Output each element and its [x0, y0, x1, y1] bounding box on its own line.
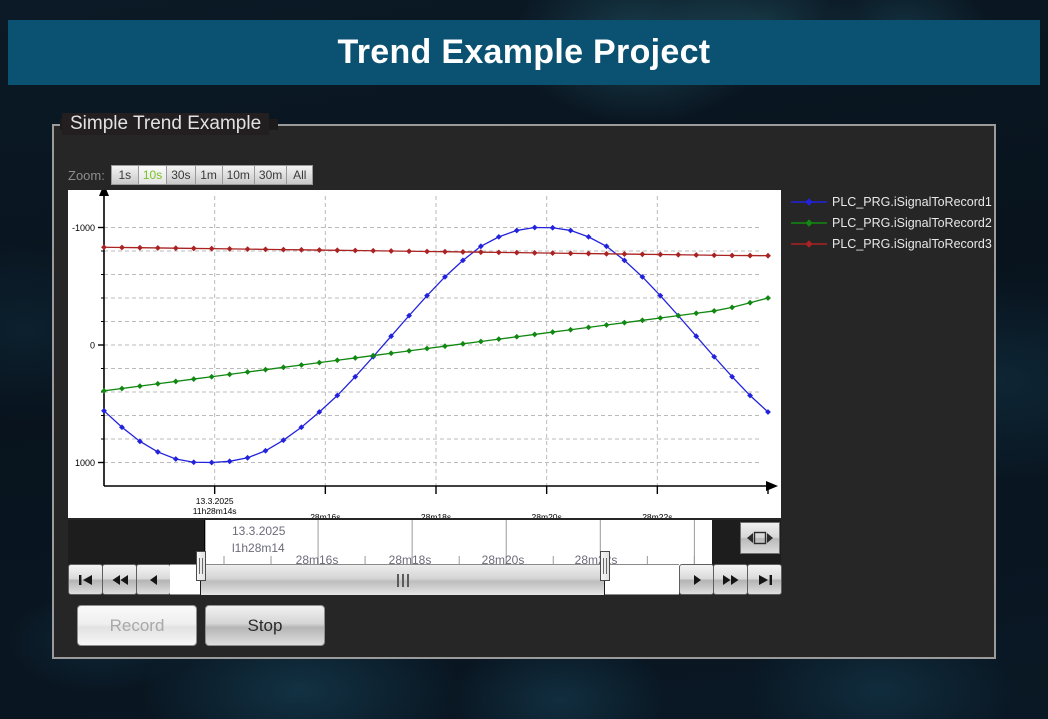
- action-buttons: Record Stop: [77, 605, 325, 646]
- zoom-toolbar: Zoom: 1s10s30s1m10m30mAll: [68, 165, 313, 185]
- handle-line: [199, 558, 200, 574]
- grip-line: [397, 574, 399, 587]
- legend-swatch-icon: [790, 238, 828, 250]
- chart-svg: 10000-1000 13.3.202511h28m14s28m16s28m18…: [68, 190, 781, 518]
- timeline-scroll-track[interactable]: [170, 564, 679, 595]
- timeline-ruler[interactable]: 13.3.2025l1h28m1428m16s28m18s28m20s28m22…: [204, 520, 712, 568]
- zoom-button-1m[interactable]: 1m: [195, 165, 222, 185]
- forward-icon: [688, 573, 706, 587]
- svg-text:-1000: -1000: [72, 223, 95, 233]
- fit-to-window-icon: [747, 530, 773, 546]
- grip-line: [407, 574, 409, 587]
- legend-item-label: PLC_PRG.iSignalToRecord1: [832, 195, 992, 209]
- timeline-step-back-button[interactable]: [136, 564, 171, 595]
- timeline-step-forward-button[interactable]: [679, 564, 714, 595]
- legend-swatch-icon: [790, 217, 828, 229]
- zoom-button-group: 1s10s30s1m10m30mAll: [111, 165, 313, 185]
- timeline-rewind-button[interactable]: [102, 564, 137, 595]
- svg-text:13.3.2025: 13.3.2025: [196, 496, 234, 506]
- zoom-button-30s[interactable]: 30s: [166, 165, 194, 185]
- svg-text:28m16s: 28m16s: [310, 512, 340, 518]
- timeline-skip-to-end-button[interactable]: [747, 564, 782, 595]
- svg-text:0: 0: [90, 341, 95, 351]
- chart-x-tick-labels: 13.3.202511h28m14s28m16s28m18s28m20s28m2…: [193, 496, 673, 518]
- timeline-navigator: 13.3.2025l1h28m1428m16s28m18s28m20s28m22…: [68, 520, 781, 595]
- zoom-label: Zoom:: [68, 168, 105, 183]
- timeline-fast-forward-button[interactable]: [713, 564, 748, 595]
- svg-text:28m22s: 28m22s: [642, 512, 672, 518]
- groupbox-title: Simple Trend Example: [62, 113, 269, 135]
- legend-item[interactable]: PLC_PRG.iSignalToRecord2: [790, 213, 990, 233]
- record-button[interactable]: Record: [77, 605, 197, 646]
- chart-legend: PLC_PRG.iSignalToRecord1PLC_PRG.iSignalT…: [790, 192, 990, 255]
- timeline-skip-to-start-button[interactable]: [68, 564, 103, 595]
- svg-text:11h28m14s: 11h28m14s: [193, 506, 237, 516]
- svg-text:28m20s: 28m20s: [532, 512, 562, 518]
- handle-line: [202, 558, 203, 574]
- timeline-scroll-thumb[interactable]: [200, 565, 605, 595]
- handle-line: [603, 558, 604, 574]
- chart-axes: [98, 190, 778, 494]
- ruler-svg: 13.3.2025l1h28m1428m16s28m18s28m20s28m22…: [204, 520, 712, 568]
- start-icon: [77, 573, 95, 587]
- legend-item[interactable]: PLC_PRG.iSignalToRecord3: [790, 234, 990, 254]
- ruler-tick-labels: 13.3.2025l1h28m1428m16s28m18s28m20s28m22…: [232, 524, 617, 567]
- zoom-button-10m[interactable]: 10m: [222, 165, 254, 185]
- fastforward-icon: [722, 573, 740, 587]
- nav-right-group: [679, 564, 781, 595]
- handle-line: [606, 558, 607, 574]
- zoom-button-all[interactable]: All: [286, 165, 313, 185]
- svg-text:13.3.2025: 13.3.2025: [232, 524, 286, 538]
- trend-chart[interactable]: 10000-1000 13.3.202511h28m14s28m16s28m18…: [68, 190, 781, 518]
- range-handle-right[interactable]: [600, 551, 610, 581]
- chart-y-tick-labels: 10000-1000: [72, 223, 95, 468]
- timeline-scrollbar-row: [68, 564, 781, 595]
- range-handle-left[interactable]: [196, 551, 206, 581]
- app-header: Trend Example Project: [8, 20, 1040, 85]
- grip-line: [402, 574, 404, 587]
- svg-text:28m18s: 28m18s: [421, 512, 451, 518]
- nav-left-group: [68, 564, 170, 595]
- back-icon: [145, 573, 163, 587]
- chart-gridlines: [104, 196, 762, 486]
- legend-item-label: PLC_PRG.iSignalToRecord3: [832, 237, 992, 251]
- fit-to-window-button[interactable]: [740, 522, 780, 554]
- page-title: Trend Example Project: [338, 33, 711, 72]
- legend-item-label: PLC_PRG.iSignalToRecord2: [832, 216, 992, 230]
- svg-text:1000: 1000: [75, 458, 95, 468]
- end-icon: [756, 573, 774, 587]
- rewind-icon: [111, 573, 129, 587]
- legend-swatch-icon: [790, 196, 828, 208]
- zoom-button-30m[interactable]: 30m: [254, 165, 286, 185]
- zoom-button-10s[interactable]: 10s: [138, 165, 166, 185]
- legend-item[interactable]: PLC_PRG.iSignalToRecord1: [790, 192, 990, 212]
- svg-text:l1h28m14: l1h28m14: [232, 541, 285, 555]
- stop-button[interactable]: Stop: [205, 605, 325, 646]
- zoom-button-1s[interactable]: 1s: [111, 165, 138, 185]
